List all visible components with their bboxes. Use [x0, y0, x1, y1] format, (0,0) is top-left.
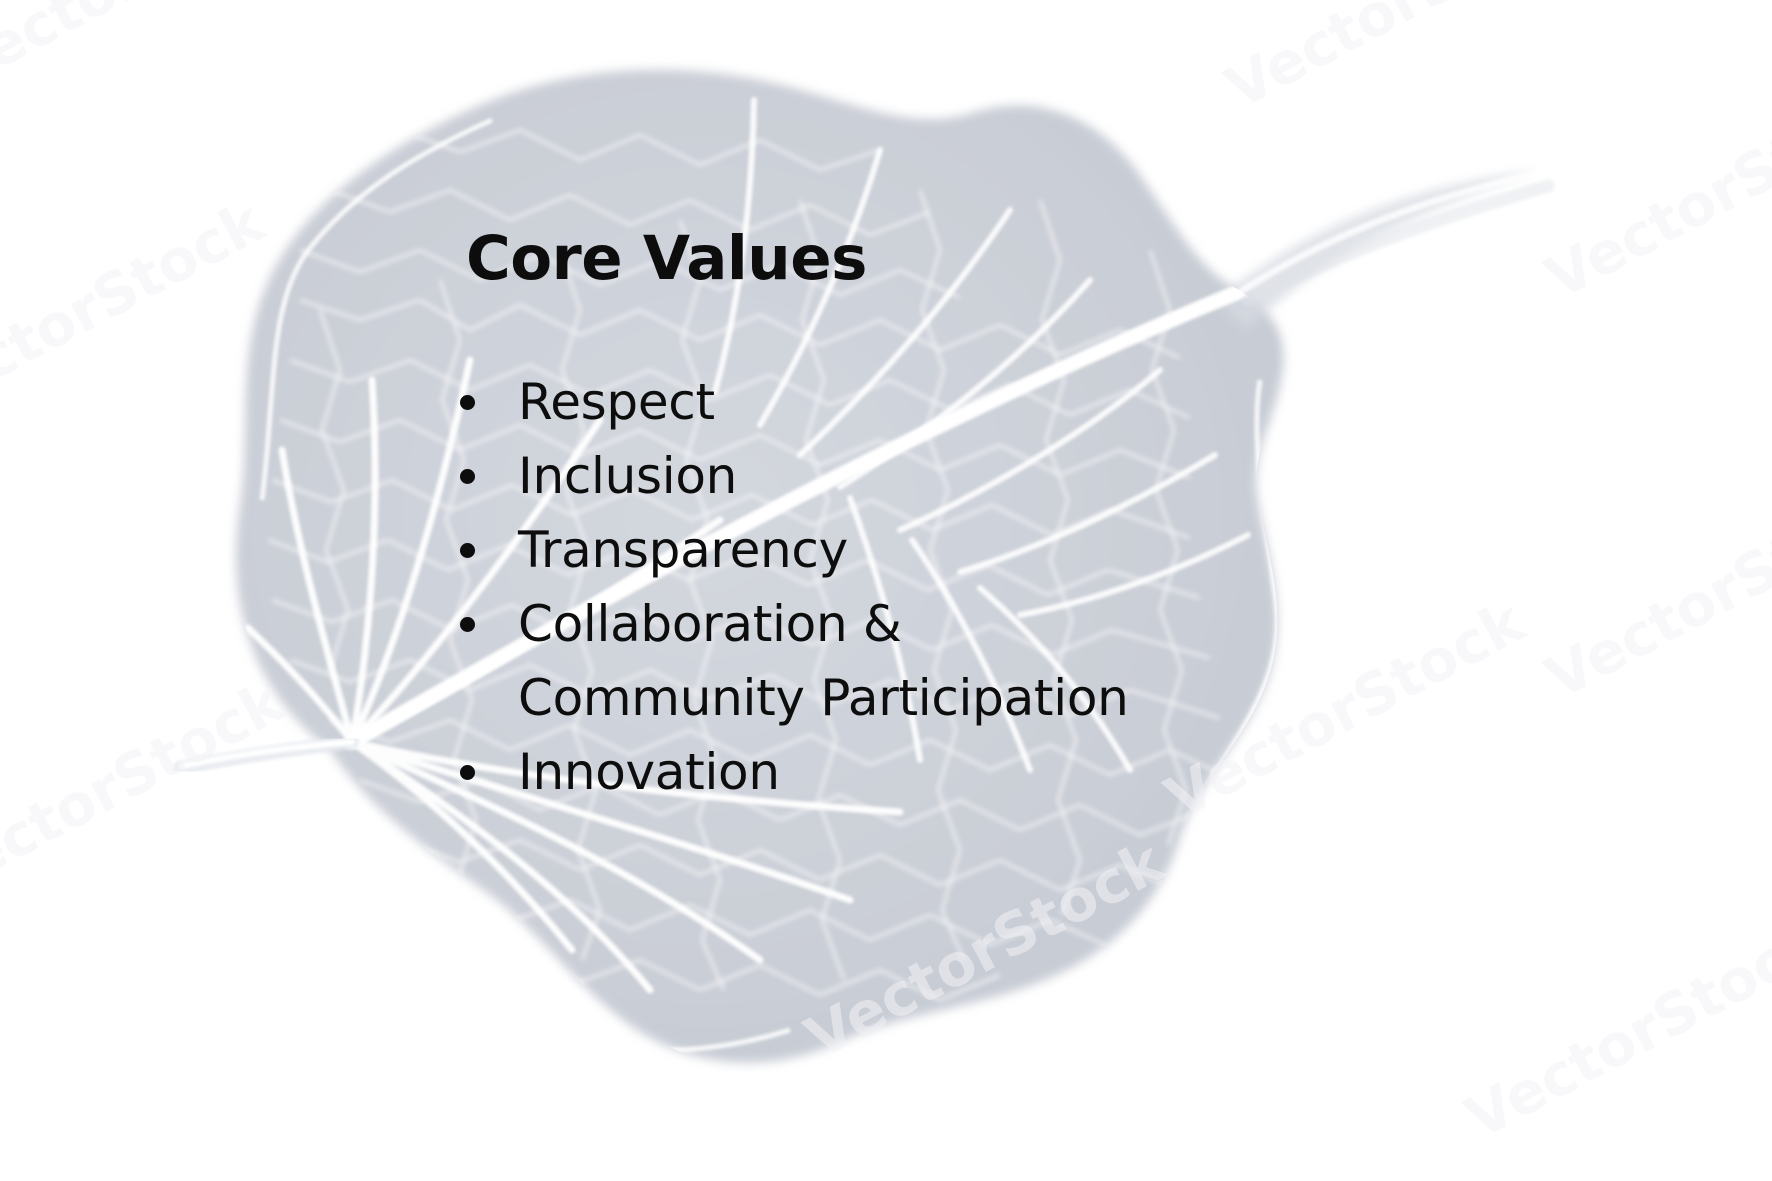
- list-item-label: Respect: [518, 373, 715, 431]
- bullet-dot-icon: [460, 765, 475, 780]
- list-item: Innovation: [448, 735, 1168, 809]
- bullet-dot-icon: [460, 617, 475, 632]
- list-item: Collaboration & Community Participation: [448, 587, 1168, 735]
- core-values-list: Respect Inclusion Transparency Collabora…: [448, 365, 1168, 809]
- page-title: Core Values: [466, 228, 867, 289]
- bullet-dot-icon: [460, 469, 475, 484]
- list-item: Inclusion: [448, 439, 1168, 513]
- list-item-label: Innovation: [518, 743, 780, 801]
- slide-content: Core Values Respect Inclusion Transparen…: [0, 0, 1772, 1181]
- list-item: Respect: [448, 365, 1168, 439]
- list-item-label: Collaboration & Community Participation: [518, 595, 1129, 727]
- bullet-dot-icon: [460, 543, 475, 558]
- bullet-dot-icon: [460, 395, 475, 410]
- list-item: Transparency: [448, 513, 1168, 587]
- slide-canvas: VectorStock VectorStock VectorStock Vect…: [0, 0, 1772, 1181]
- list-item-label: Inclusion: [518, 447, 737, 505]
- list-item-label: Transparency: [518, 521, 848, 579]
